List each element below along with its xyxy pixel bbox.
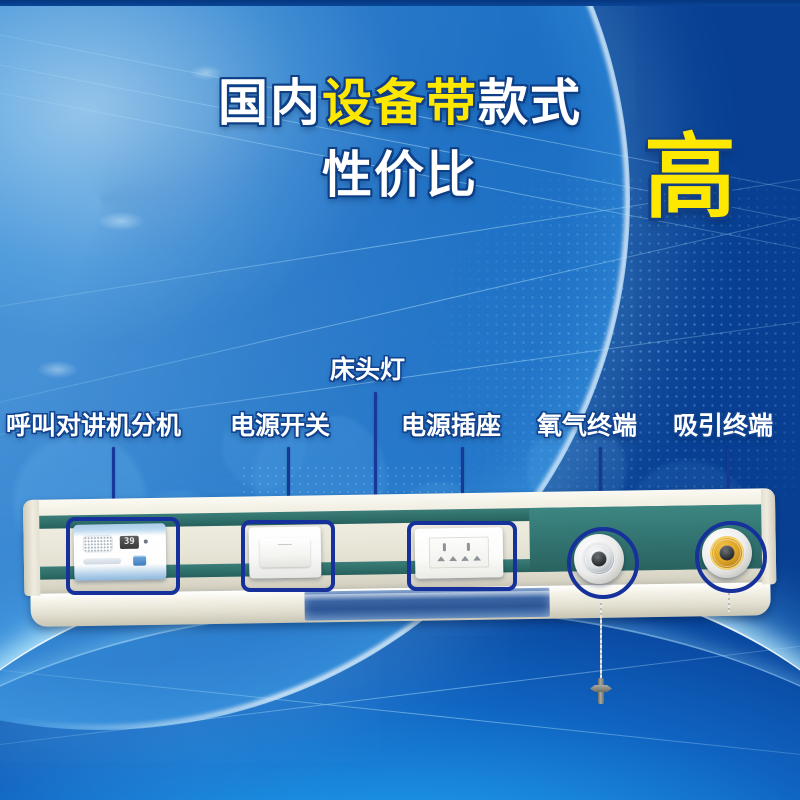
callout-label-suction: 吸引终端 [673,414,773,439]
highlight-box-socket [407,521,517,591]
pull-cord-grip[interactable] [590,678,612,704]
suction-drain-cord [728,590,730,612]
callout-label-oxygen: 氧气终端 [537,414,637,439]
callout-label-bedlamp: 床头灯 [330,358,405,383]
callout-label-socket: 电源插座 [401,414,501,439]
panel-end-cap-left [23,500,41,596]
callout-label-intercom: 呼叫对讲机分机 [6,414,181,439]
highlight-box-intercom [66,517,180,595]
highlight-circle-suction [695,521,767,593]
highlight-box-switch [241,520,335,592]
highlight-circle-oxygen [567,527,639,599]
headline-emphasis-word: 高 [644,132,736,224]
lamp-gloss [304,591,549,602]
promo-banner: 国内设备带款式 性价比 高 呼叫对讲机分机 电源开关 床头灯 电源插座 氧气终端… [0,0,800,800]
bed-lamp-strip-icon[interactable] [304,588,549,621]
callout-label-switch: 电源开关 [230,414,330,439]
top-edge-band [0,0,800,6]
pull-cord-icon[interactable] [600,600,602,688]
